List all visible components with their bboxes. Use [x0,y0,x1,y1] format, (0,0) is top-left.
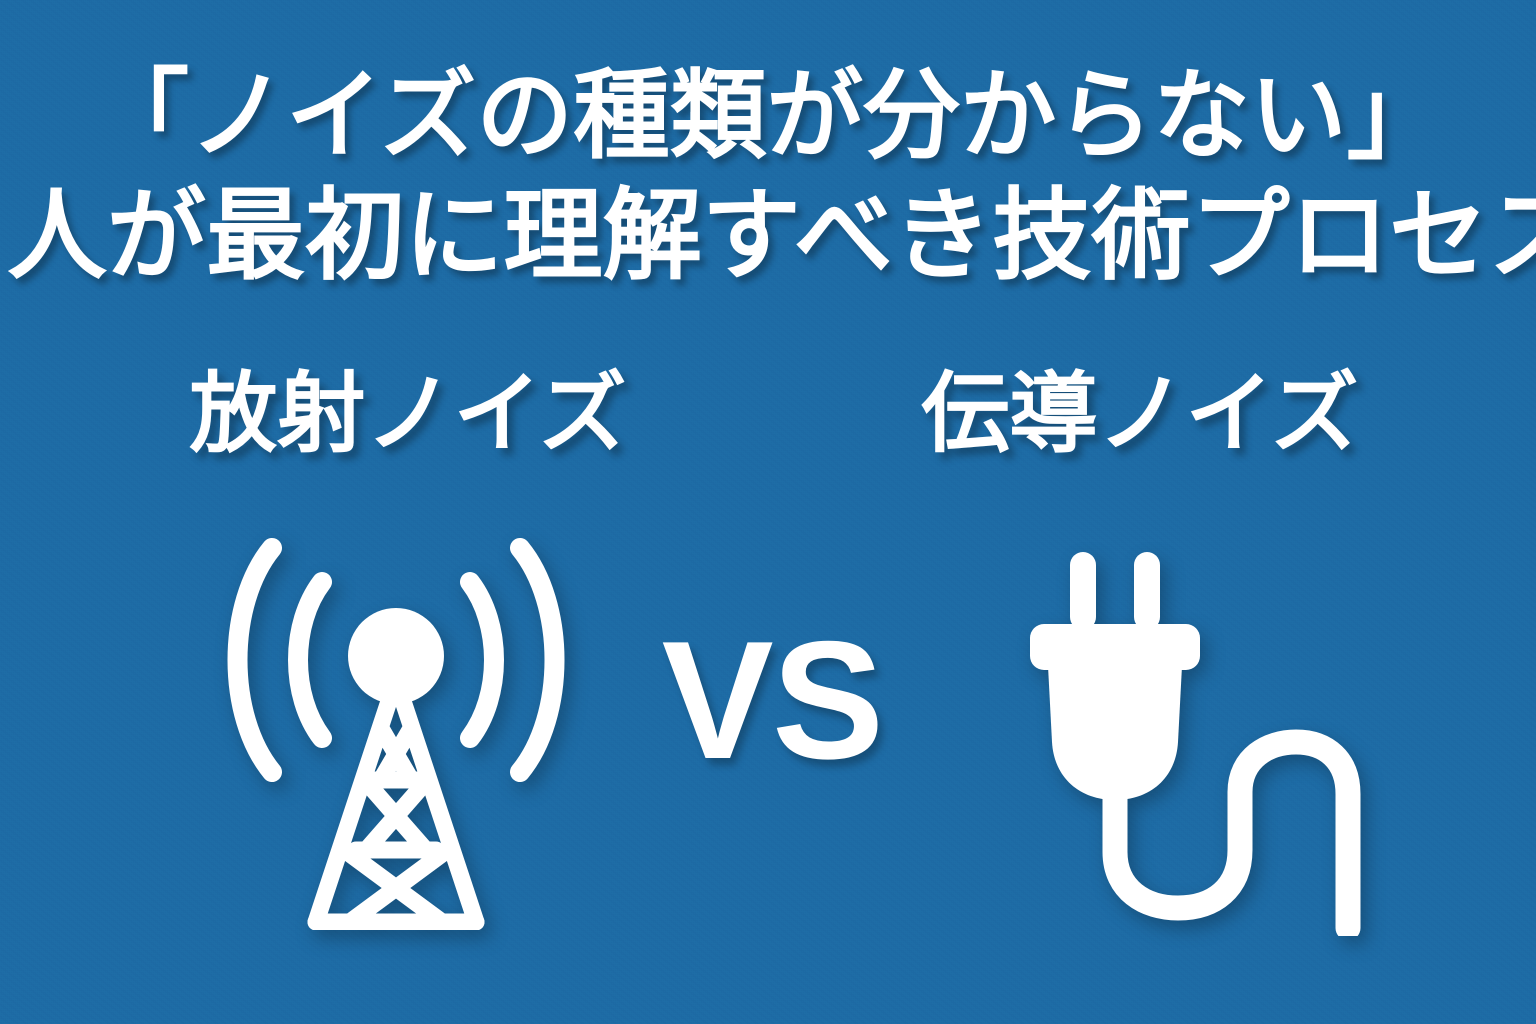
left-column-label: 放射ノイズ [58,368,758,460]
thumbnail-canvas: 「ノイズの種類が分からない」 人が最初に理解すべき技術プロセス 放射ノイズ 伝導… [0,0,1536,1024]
title-line-1: 「ノイズの種類が分からない」 [12,66,1525,164]
page-title: 「ノイズの種類が分からない」 人が最初に理解すべき技術プロセス [0,66,1536,286]
title-line-2: 人が最初に理解すべき技術プロセス [8,186,1529,286]
comparison-section: 放射ノイズ 伝導ノイズ [0,368,1536,968]
versus-label: VS [638,616,906,784]
power-plug-icon [1018,546,1368,936]
right-column-label: 伝導ノイズ [790,368,1490,460]
radio-tower-icon [200,530,592,930]
